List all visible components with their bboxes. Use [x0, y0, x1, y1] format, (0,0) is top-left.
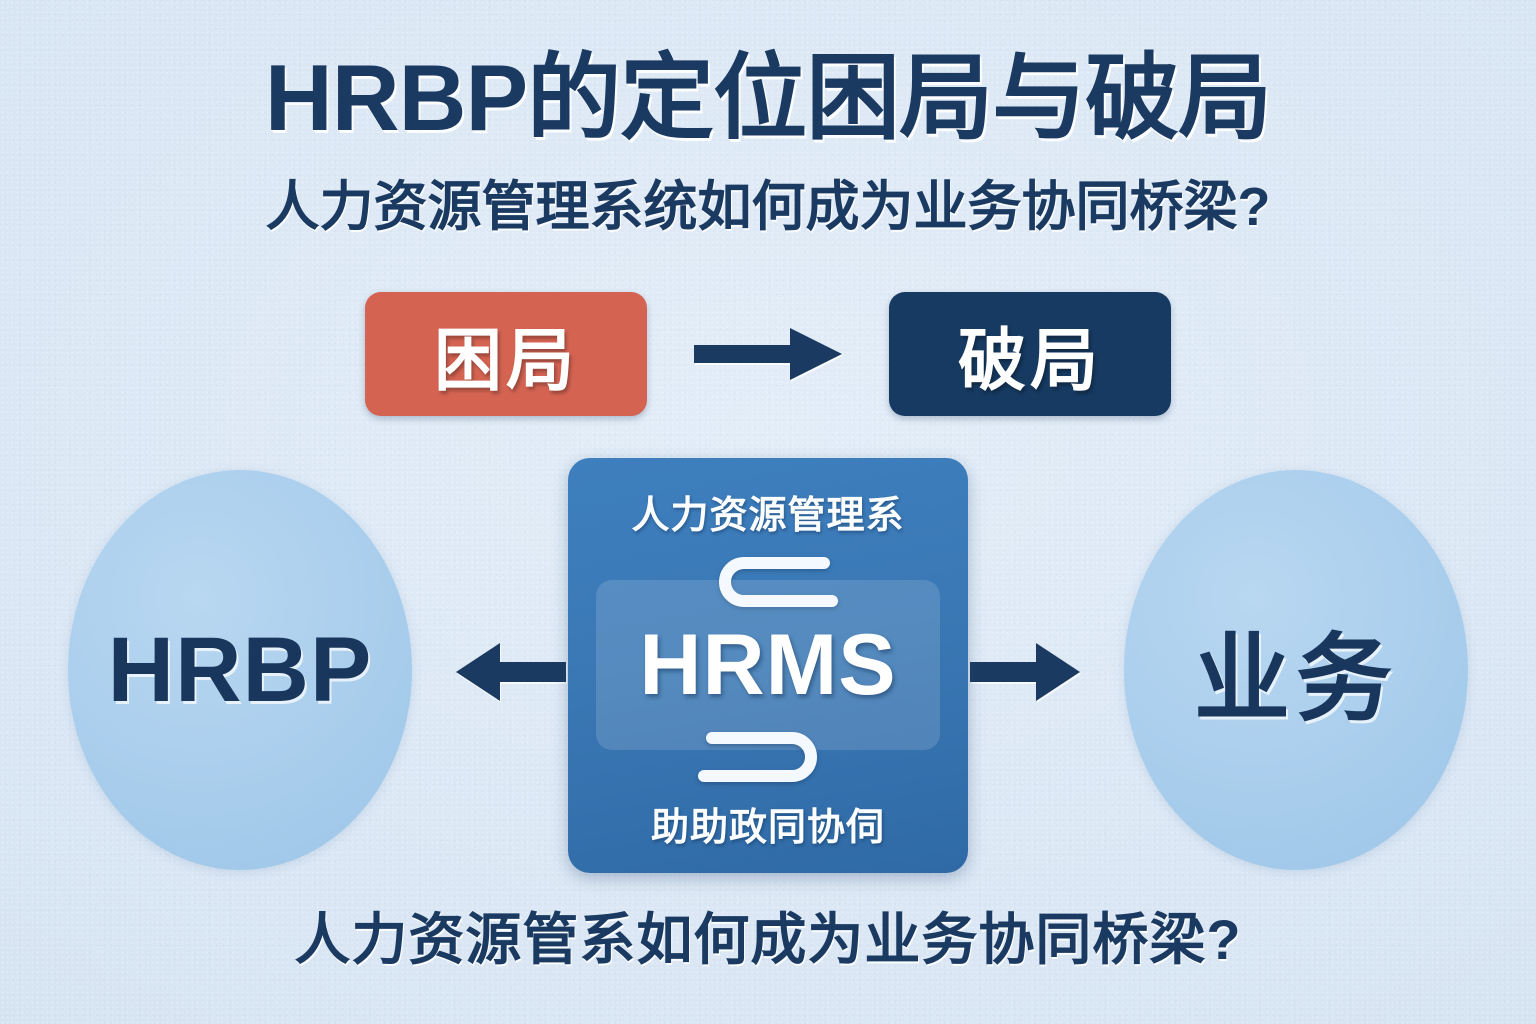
node-hrms-card: 人力资源管理系 HRMS 助助政同协伺 [568, 458, 968, 873]
hrms-acronym-label: HRMS [639, 616, 896, 715]
hrms-acronym-panel: HRMS [596, 580, 940, 750]
loop-open-left-icon [698, 729, 838, 785]
problem-badge-label: 困局 [434, 305, 578, 404]
bridge-diagram: HRBP 人力资源管理系 HRMS 助助 [0, 440, 1536, 900]
transition-badge-row: 困局 破局 [0, 292, 1536, 416]
hrms-top-label: 人力资源管理系 [568, 484, 968, 539]
arrow-hrms-to-business [966, 636, 1084, 708]
node-business-label: 业务 [1194, 601, 1398, 740]
page-subtitle: 人力资源管理系统如何成为业务协同桥梁? [0, 178, 1536, 237]
node-hrbp-label: HRBP [108, 618, 373, 723]
arrow-left-icon [456, 639, 566, 705]
arrow-right-icon [694, 324, 842, 384]
node-hrbp: HRBP [68, 470, 412, 870]
arrow-right-icon [970, 639, 1080, 705]
transition-arrow [647, 324, 889, 384]
infographic-canvas: HRBP的定位困局与破局 人力资源管理系统如何成为业务协同桥梁? 困局 破局 H… [0, 0, 1536, 1024]
node-business: 业务 [1124, 470, 1468, 870]
solution-badge: 破局 [889, 292, 1171, 416]
footer-caption: 人力资源管系如何成为业务协同桥梁? [0, 895, 1536, 976]
solution-badge-label: 破局 [958, 305, 1102, 404]
arrow-hrms-to-hrbp [452, 636, 570, 708]
hrms-bottom-label: 助助政同协伺 [568, 796, 968, 851]
problem-badge: 困局 [365, 292, 647, 416]
page-title: HRBP的定位困局与破局 [0, 47, 1536, 149]
hrms-bottom-loop [698, 729, 838, 785]
